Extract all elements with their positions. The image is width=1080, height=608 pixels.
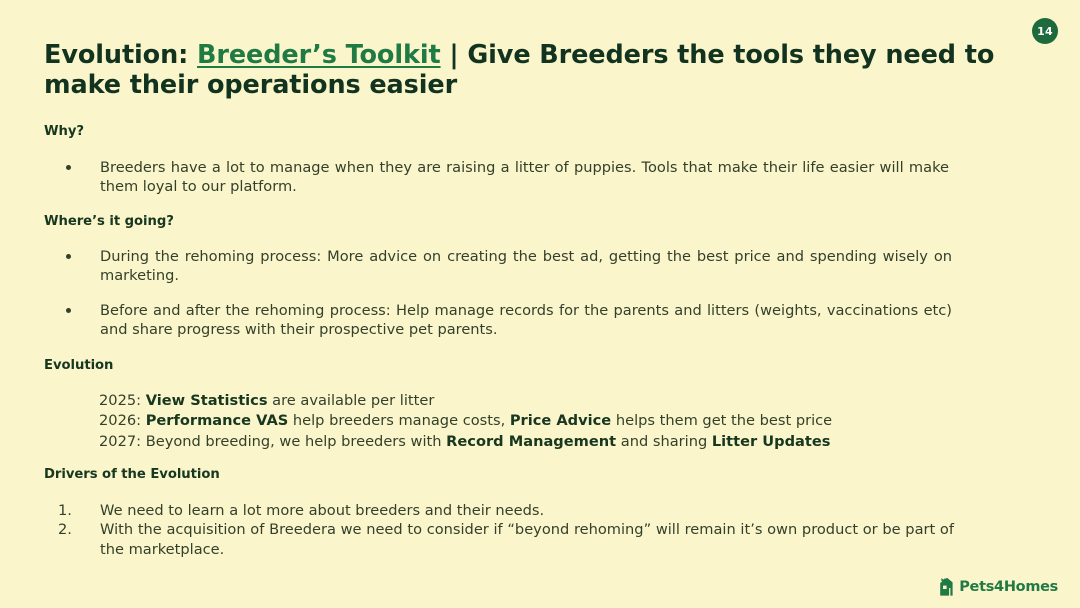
evolution-line-2027: 2027: Beyond breeding, we help breeders … [99, 432, 999, 452]
section-body-drivers: 1. We need to learn a lot more about bre… [44, 501, 954, 559]
bullet-dot-icon [66, 308, 71, 313]
title-link-breeders-toolkit[interactable]: Breeder’s Toolkit [197, 40, 441, 70]
list-item: During the rehoming process: More advice… [44, 247, 952, 286]
evolution-line-2026: 2026: Performance VAS help breeders mana… [99, 411, 999, 431]
list-item: 1. We need to learn a lot more about bre… [44, 501, 954, 520]
evolution-highlight: View Statistics [146, 392, 268, 409]
list-item-text: We need to learn a lot more about breede… [100, 501, 954, 520]
evolution-text: helps them get the best price [611, 412, 832, 429]
list-item: Breeders have a lot to manage when they … [44, 158, 949, 197]
evolution-year: 2026: [99, 412, 146, 429]
evolution-highlight: Performance VAS [146, 412, 289, 429]
section-heading-evolution: Evolution [44, 358, 113, 373]
evolution-highlight: Litter Updates [712, 433, 831, 450]
evolution-text: help breeders manage costs, [288, 412, 510, 429]
pets4homes-house-cat-icon [939, 577, 956, 596]
list-item-marker: 2. [58, 520, 72, 539]
list-item: 2. With the acquisition of Breedera we n… [44, 520, 954, 559]
evolution-text: are available per litter [268, 392, 435, 409]
section-heading-drivers: Drivers of the Evolution [44, 467, 220, 482]
evolution-year: 2027: [99, 433, 146, 450]
evolution-text: and sharing [616, 433, 712, 450]
list-item-marker: 1. [58, 501, 72, 520]
page-title: Evolution: Breeder’s Toolkit | Give Bree… [44, 40, 1012, 100]
title-prefix: Evolution: [44, 40, 197, 70]
evolution-line-2025: 2025: View Statistics are available per … [99, 391, 999, 411]
bullet-dot-icon [66, 165, 71, 170]
list-item-text: During the rehoming process: More advice… [100, 247, 952, 286]
page-number-badge: 14 [1032, 18, 1058, 44]
brand-logo-text: Pets4Homes [959, 579, 1058, 595]
evolution-highlight: Price Advice [510, 412, 611, 429]
list-item: Before and after the rehoming process: H… [44, 301, 952, 340]
evolution-timeline: 2025: View Statistics are available per … [99, 391, 999, 452]
section-heading-why: Why? [44, 124, 84, 139]
list-item-text: With the acquisition of Breedera we need… [100, 520, 954, 559]
section-body-why: Breeders have a lot to manage when they … [44, 158, 949, 197]
list-item-text: Breeders have a lot to manage when they … [100, 158, 949, 197]
bullet-dot-icon [66, 254, 71, 259]
evolution-highlight: Record Management [446, 433, 616, 450]
section-heading-where: Where’s it going? [44, 214, 174, 229]
evolution-text: Beyond breeding, we help breeders with [146, 433, 446, 450]
slide-canvas: 14 Evolution: Breeder’s Toolkit | Give B… [0, 0, 1080, 608]
list-item-text: Before and after the rehoming process: H… [100, 301, 952, 340]
brand-logo: Pets4Homes [939, 577, 1058, 596]
section-body-where: During the rehoming process: More advice… [44, 247, 952, 340]
evolution-year: 2025: [99, 392, 146, 409]
